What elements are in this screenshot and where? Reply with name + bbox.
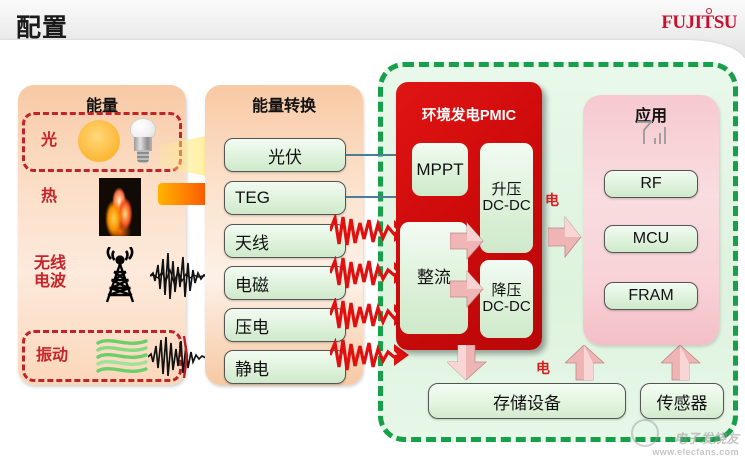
pmic-boost-line2: DC-DC — [482, 197, 530, 214]
flow-arrow-rectifier-to-boost — [450, 222, 484, 260]
application-item-rf[interactable]: RF — [604, 170, 698, 198]
lightbulb-body-part — [134, 137, 152, 151]
flow-arrow-rectifier-to-buck — [450, 270, 484, 308]
conversion-item-teg[interactable]: TEG — [224, 181, 346, 215]
conversion-item-piezoelectric[interactable]: 压电 — [224, 308, 346, 342]
watermark-ring-icon — [631, 419, 659, 447]
bottom-item-storage-device[interactable]: 存储设备 — [428, 383, 626, 419]
conversion-item-photovoltaic[interactable]: 光伏 — [224, 138, 346, 172]
conversion-item-electrostatic[interactable]: 静电 — [224, 350, 346, 384]
application-item-mcu[interactable]: MCU — [604, 225, 698, 253]
pmic-boost-line1: 升压 — [491, 181, 521, 198]
seismic-wave-graph-icon-2 — [148, 334, 210, 380]
vibration-waves-icon — [96, 336, 148, 376]
pmic-title: 环境发电PMIC — [396, 104, 542, 125]
signal-antenna-icon — [636, 120, 670, 146]
pmic-buck-line2: DC-DC — [482, 298, 530, 315]
fire-icon — [99, 178, 141, 236]
radio-tower-icon — [98, 247, 142, 303]
slide-root: 配置 FUJITSU 能量 光 热 无线 电波 振动 — [0, 0, 745, 461]
pmic-block-buck-dcdc[interactable]: 降压 DC-DC — [480, 260, 533, 338]
panel-energy-conversion-title: 能量转换 — [205, 92, 363, 116]
bottom-item-sensor[interactable]: 传感器 — [640, 383, 724, 419]
power-label-right: 电 — [545, 190, 559, 210]
energy-source-label-vibration: 振动 — [26, 347, 78, 365]
pmic-buck-line1: 降压 — [491, 282, 521, 299]
watermark-url: www.elecfans.com — [652, 447, 739, 457]
lightbulb-base-part — [137, 150, 149, 163]
lightbulb-icon — [128, 118, 158, 164]
fujitsu-logo: FUJITSU — [661, 12, 737, 34]
power-label-bottom: 电 — [536, 358, 550, 378]
energy-source-label-heat: 热 — [32, 188, 66, 206]
pmic-block-mppt[interactable]: MPPT — [412, 143, 468, 196]
page-title: 配置 — [16, 8, 68, 44]
slide-header: 配置 FUJITSU — [0, 0, 745, 58]
pmic-block-boost-dcdc[interactable]: 升压 DC-DC — [480, 143, 533, 253]
flow-arrow-sensor-to-application — [661, 345, 701, 381]
sun-icon — [78, 120, 120, 162]
energy-source-label-radio-line1: 无线 — [34, 255, 66, 272]
energy-source-label-light: 光 — [32, 132, 66, 150]
flow-arrow-pmic-to-storage — [447, 345, 487, 381]
application-item-fram[interactable]: FRAM — [604, 282, 698, 310]
conversion-item-electromagnetic[interactable]: 电磁 — [224, 266, 346, 300]
energy-source-label-radio-line2: 电波 — [34, 273, 66, 290]
seismic-wave-graph-icon — [150, 245, 208, 307]
energy-source-label-radio: 无线 电波 — [24, 255, 76, 291]
conversion-item-antenna[interactable]: 天线 — [224, 224, 346, 258]
flow-arrow-pmic-to-application — [548, 215, 582, 259]
flow-arrow-storage-to-pmic — [565, 345, 605, 381]
